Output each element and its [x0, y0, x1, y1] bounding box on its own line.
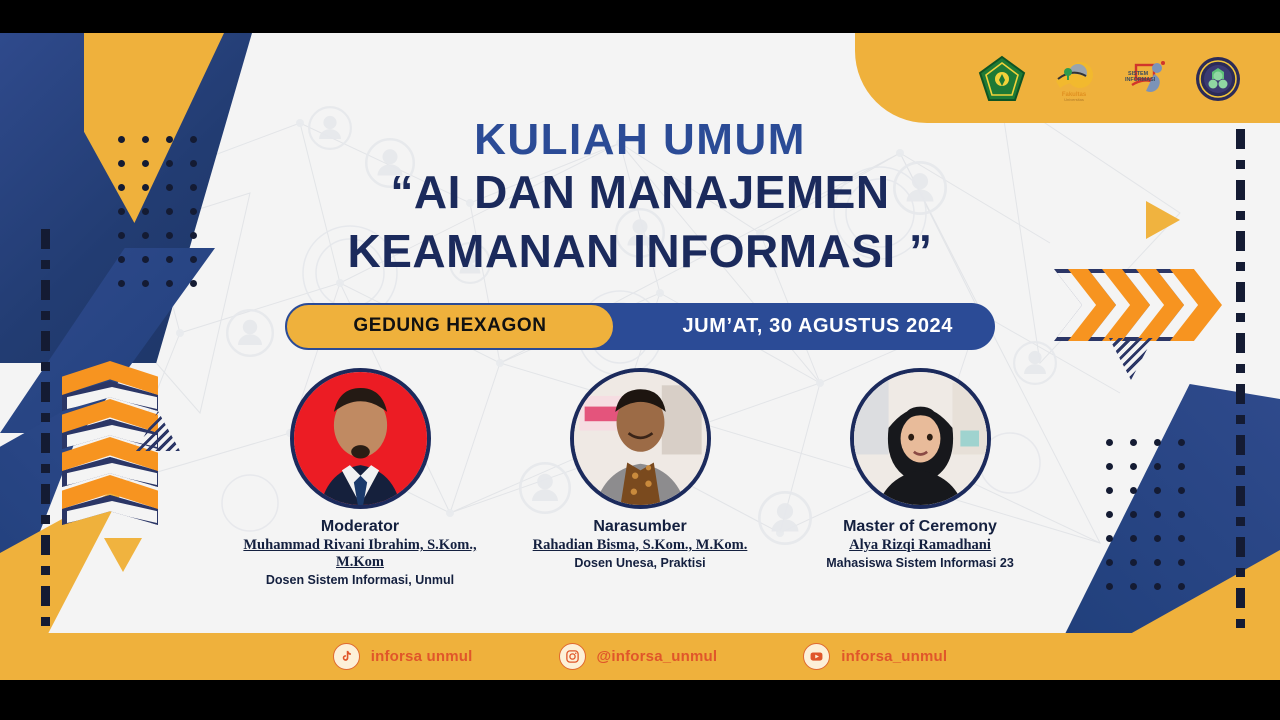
social-link[interactable]: inforsa_unmul [803, 643, 947, 670]
letterbox-bottom [0, 680, 1280, 720]
dash-segment [1236, 588, 1245, 608]
moderator-photo [290, 368, 431, 509]
youtube-icon[interactable] [803, 643, 830, 670]
speaker-affiliation: Dosen Sistem Informasi, Unmul [235, 573, 485, 587]
social-footer-bar: inforsa unmul@inforsa_unmulinforsa_unmul [0, 633, 1280, 680]
social-link[interactable]: inforsa unmul [333, 643, 473, 670]
poster-canvas: Fakultas Universitas SISTEM INFORMASI [0, 33, 1280, 680]
speaker-role: Master of Ceremony [795, 518, 1045, 536]
letterbox-top [0, 0, 1280, 33]
title-line-1: KULIAH UMUM [0, 117, 1280, 163]
instagram-icon[interactable] [559, 643, 586, 670]
speaker-name: Muhammad Rivani Ibrahim, S.Kom., M.Kom [235, 537, 485, 571]
title-line-2: “AI DAN MANAJEMEN [0, 163, 1280, 222]
social-link[interactable]: @inforsa_unmul [559, 643, 718, 670]
speaker-affiliation: Mahasiswa Sistem Informasi 23 [795, 556, 1045, 570]
poster-stage: Fakultas Universitas SISTEM INFORMASI [0, 0, 1280, 720]
speaker-card: Master of CeremonyAlya Rizqi RamadhaniMa… [795, 368, 1045, 587]
speaker-card: NarasumberRahadian Bisma, S.Kom., M.Kom.… [515, 368, 765, 587]
social-handle: @inforsa_unmul [597, 648, 718, 665]
title-block: KULIAH UMUM “AI DAN MANAJEMEN KEAMANAN I… [0, 33, 1280, 281]
speaker-role: Narasumber [515, 518, 765, 536]
speaker-name: Alya Rizqi Ramadhani [795, 537, 1045, 554]
event-info-bar: JUM’AT, 30 AGUSTUS 2024 GEDUNG HEXAGON [285, 303, 995, 350]
narasumber-photo [570, 368, 711, 509]
poster-content: KULIAH UMUM “AI DAN MANAJEMEN KEAMANAN I… [0, 33, 1280, 587]
social-handle: inforsa_unmul [841, 648, 947, 665]
event-venue-pill: GEDUNG HEXAGON [285, 303, 615, 350]
speaker-card: ModeratorMuhammad Rivani Ibrahim, S.Kom.… [235, 368, 485, 587]
speakers-row: ModeratorMuhammad Rivani Ibrahim, S.Kom.… [235, 368, 1045, 587]
title-line-3: KEAMANAN INFORMASI ” [0, 222, 1280, 281]
tiktok-icon[interactable] [333, 643, 360, 670]
dash-segment [41, 586, 50, 606]
social-handle: inforsa unmul [371, 648, 473, 665]
speaker-affiliation: Dosen Unesa, Praktisi [515, 556, 765, 570]
mc-photo [850, 368, 991, 509]
speaker-name: Rahadian Bisma, S.Kom., M.Kom. [515, 537, 765, 554]
dash-segment [41, 617, 50, 626]
speaker-role: Moderator [235, 518, 485, 536]
dash-segment [1236, 619, 1245, 628]
